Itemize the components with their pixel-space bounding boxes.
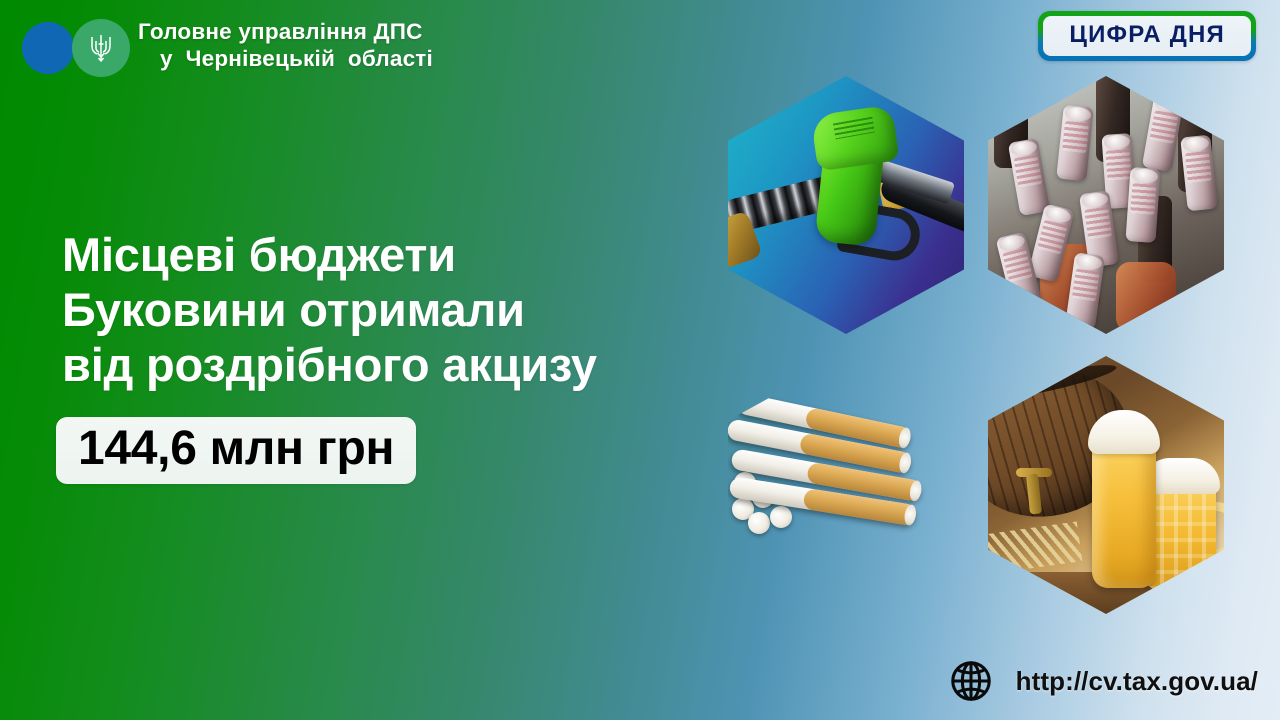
org-name-line1: Головне управління ДПС — [138, 18, 433, 45]
beer-illustration — [988, 356, 1224, 614]
fuel-nozzle-illustration — [728, 76, 964, 334]
globe-icon — [948, 658, 994, 704]
hexagon-image-fuel — [728, 76, 964, 334]
cigarettes-illustration — [728, 356, 964, 614]
hexagon-image-alcohol — [988, 76, 1224, 334]
amount-highlight-box: 144,6 млн грн — [56, 417, 416, 484]
organization-name: Головне управління ДПС у Чернівецькій об… — [132, 18, 433, 73]
footer: http://cv.tax.gov.ua/ — [948, 658, 1258, 704]
ukraine-trident-icon — [88, 32, 114, 64]
hexagon-image-cigarettes — [728, 356, 964, 614]
headline-line-1: Місцеві бюджети — [62, 228, 762, 283]
organization-logo — [14, 14, 132, 76]
hexagon-image-beer — [988, 356, 1224, 614]
headline-line-2: Буковини отримали — [62, 283, 762, 338]
logo-green-circle — [72, 19, 130, 77]
figure-of-the-day-badge: ЦИФРА ДНЯ — [1038, 11, 1256, 61]
logo-blue-circle — [22, 22, 74, 74]
amount-value: 144,6 млн грн — [78, 425, 394, 473]
badge-inner: ЦИФРА ДНЯ — [1043, 16, 1251, 56]
website-url[interactable]: http://cv.tax.gov.ua/ — [1016, 666, 1258, 697]
header: Головне управління ДПС у Чернівецькій об… — [0, 0, 433, 76]
headline-line-3: від роздрібного акцизу — [62, 338, 762, 393]
alcohol-bottles-illustration — [988, 76, 1224, 334]
org-name-line2: у Чернівецькій області — [138, 45, 433, 72]
infographic-poster: Головне управління ДПС у Чернівецькій об… — [0, 0, 1280, 720]
headline: Місцеві бюджети Буковини отримали від ро… — [62, 228, 762, 392]
badge-label: ЦИФРА ДНЯ — [1069, 23, 1225, 47]
